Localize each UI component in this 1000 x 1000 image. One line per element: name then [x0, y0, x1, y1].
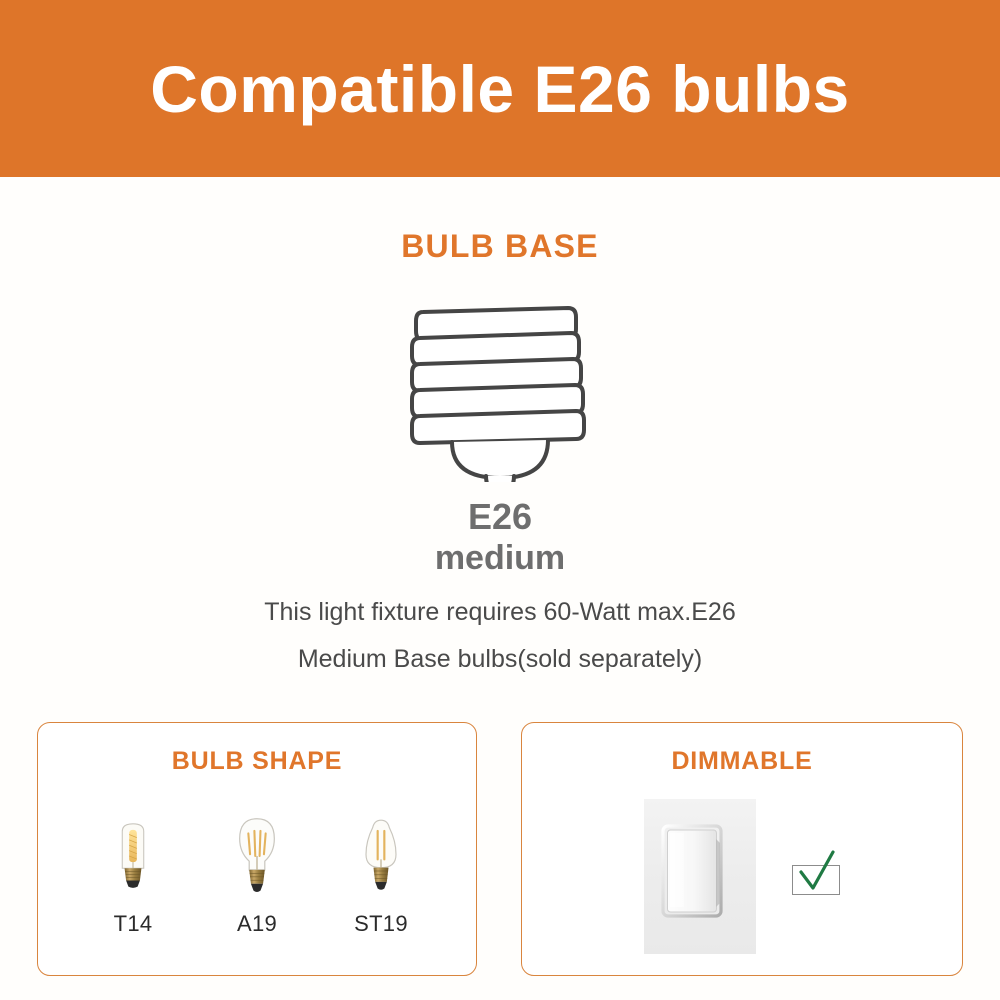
a19-bulb-icon [231, 811, 283, 901]
bulb-label-st19: ST19 [354, 911, 408, 937]
bulb-option-t14[interactable]: T14 [87, 811, 179, 937]
bulb-shape-list: T14 [38, 811, 476, 937]
dimmable-card-heading: DIMMABLE [522, 747, 962, 776]
bulb-base-code: E26 [0, 496, 1000, 538]
infographic-page: Compatible E26 bulbs BULB BASE [0, 0, 1000, 1000]
bulb-base-size: medium [0, 539, 1000, 578]
description-line-2: Medium Base bulbs(sold separately) [0, 645, 1000, 674]
header-banner: Compatible E26 bulbs [0, 0, 1000, 177]
dimmable-card: DIMMABLE [521, 722, 963, 976]
t14-bulb-icon [110, 811, 156, 901]
bulb-base-heading: BULB BASE [0, 228, 1000, 265]
page-title: Compatible E26 bulbs [150, 56, 849, 122]
dimmable-content [522, 791, 962, 961]
bulb-shape-card: BULB SHAPE [37, 722, 477, 976]
bulb-shape-card-heading: BULB SHAPE [38, 747, 476, 776]
st19-bulb-icon [356, 811, 406, 901]
e26-screw-base-icon [390, 282, 610, 482]
green-checkmark-icon [797, 850, 841, 898]
bulb-label-a19: A19 [237, 911, 277, 937]
bulb-option-a19[interactable]: A19 [211, 811, 303, 937]
dimmable-checkbox[interactable] [792, 865, 840, 895]
bulb-label-t14: T14 [114, 911, 153, 937]
description-line-1: This light fixture requires 60-Watt max.… [0, 598, 1000, 627]
bulb-option-st19[interactable]: ST19 [335, 811, 427, 937]
dimmer-switch-photo[interactable] [644, 799, 756, 954]
